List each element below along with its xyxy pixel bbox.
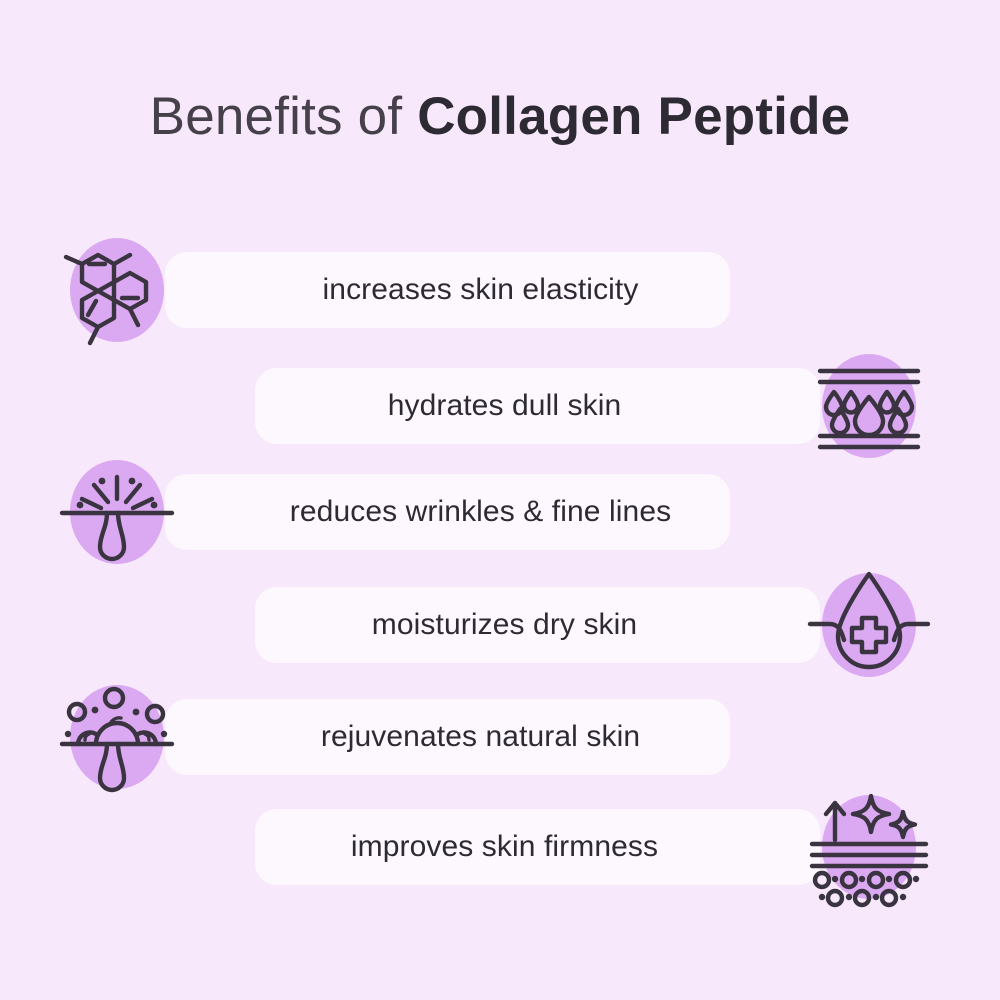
benefit-row-6[interactable]: improves skin firmness: [255, 809, 820, 885]
benefit-row-5[interactable]: rejuvenates natural skin: [165, 699, 730, 775]
benefit-icon-6: [820, 782, 917, 912]
benefit-label-1: increases skin elasticity: [165, 273, 730, 307]
infographic-canvas: Benefits of Collagen Peptide increases s…: [0, 0, 1000, 1000]
page-title: Benefits of Collagen Peptide: [0, 88, 1000, 146]
benefit-pill-6[interactable]: improves skin firmness: [255, 809, 820, 885]
benefit-row-2[interactable]: hydrates dull skin: [255, 368, 820, 444]
benefit-label-5: rejuvenates natural skin: [165, 720, 730, 754]
benefit-label-3: reduces wrinkles & fine lines: [165, 495, 730, 529]
benefit-label-4: moisturizes dry skin: [255, 608, 820, 642]
benefit-pill-4[interactable]: moisturizes dry skin: [255, 587, 820, 663]
benefit-pill-2[interactable]: hydrates dull skin: [255, 368, 820, 444]
molecule-hexagon-icon: [52, 225, 182, 355]
page-title-bold: Collagen Peptide: [417, 87, 850, 146]
benefit-label-2: hydrates dull skin: [255, 389, 820, 423]
benefit-row-1[interactable]: increases skin elasticity: [165, 252, 730, 328]
benefit-icon-1: [68, 225, 165, 355]
benefit-row-3[interactable]: reduces wrinkles & fine lines: [165, 474, 730, 550]
benefit-icon-5: [68, 672, 165, 802]
skin-layers-arrow-sparkle-icon: [804, 782, 934, 912]
pore-bubbles-icon: [52, 672, 182, 802]
skin-pore-radiating-icon: [52, 447, 182, 577]
benefit-icon-2: [820, 341, 917, 471]
benefit-pill-3[interactable]: reduces wrinkles & fine lines: [165, 474, 730, 550]
benefit-icon-3: [68, 447, 165, 577]
droplet-plus-icon: [804, 560, 934, 690]
benefit-row-4[interactable]: moisturizes dry skin: [255, 587, 820, 663]
water-droplets-skin-layers-icon: [804, 341, 934, 471]
benefit-label-6: improves skin firmness: [255, 830, 820, 864]
benefit-pill-1[interactable]: increases skin elasticity: [165, 252, 730, 328]
benefit-pill-5[interactable]: rejuvenates natural skin: [165, 699, 730, 775]
benefit-icon-4: [820, 560, 917, 690]
page-title-light: Benefits of: [150, 87, 418, 146]
